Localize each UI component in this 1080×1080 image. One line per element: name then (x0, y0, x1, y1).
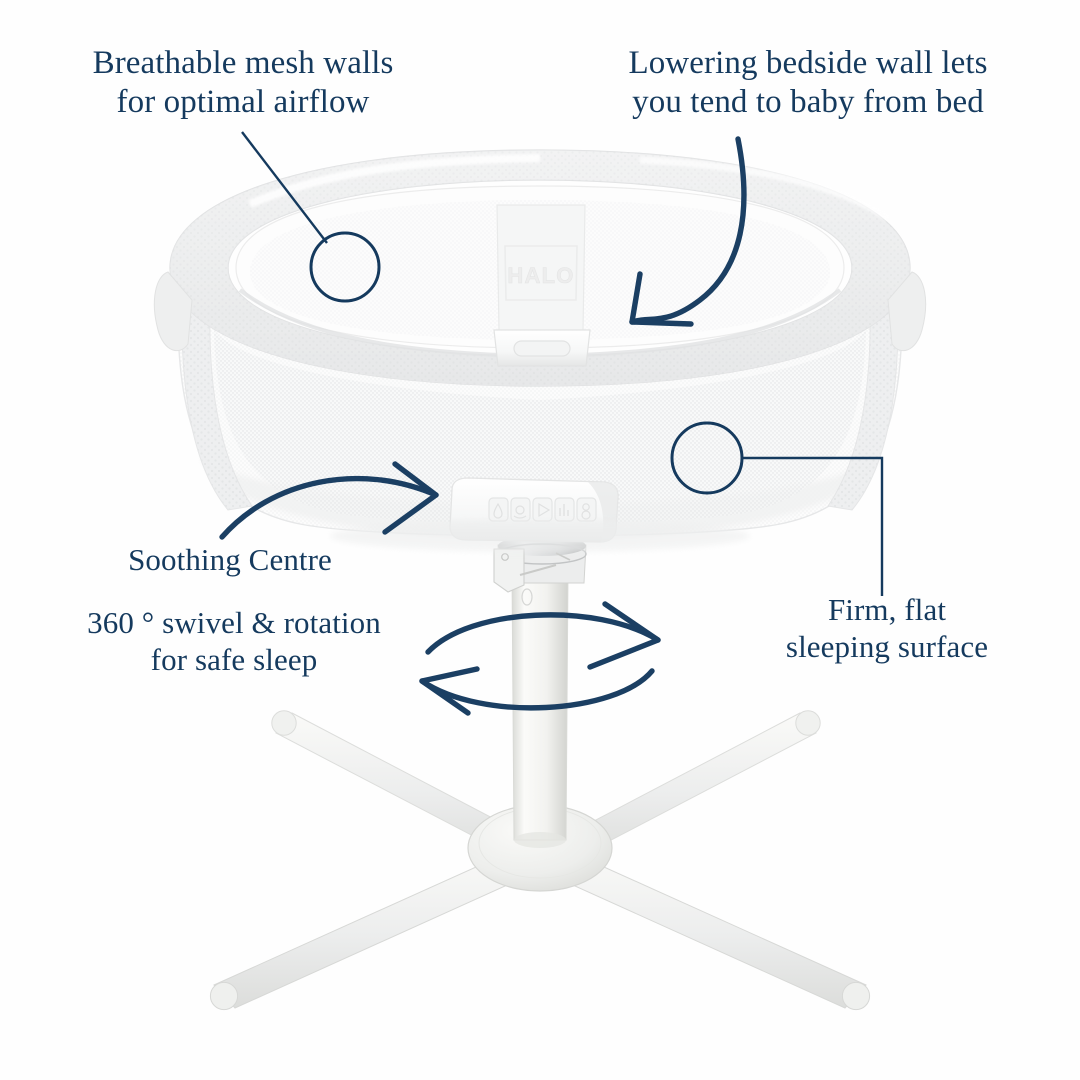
halo-logo: HALO (507, 263, 574, 288)
volume-bars-button[interactable] (555, 498, 574, 521)
timer-button[interactable] (577, 498, 596, 521)
product-illustration: HALO (0, 0, 1080, 1080)
play-button[interactable] (533, 498, 552, 521)
nightlight-button[interactable] (489, 498, 508, 521)
center-post (512, 572, 568, 848)
soothing-centre-button-row[interactable] (489, 498, 596, 521)
wall-release-buckle[interactable] (494, 330, 590, 366)
infographic-canvas: HALO (0, 0, 1080, 1080)
center-fabric-strap: HALO (497, 205, 585, 332)
sound-wave-button[interactable] (511, 498, 530, 521)
bassinet-body: HALO (154, 150, 925, 552)
